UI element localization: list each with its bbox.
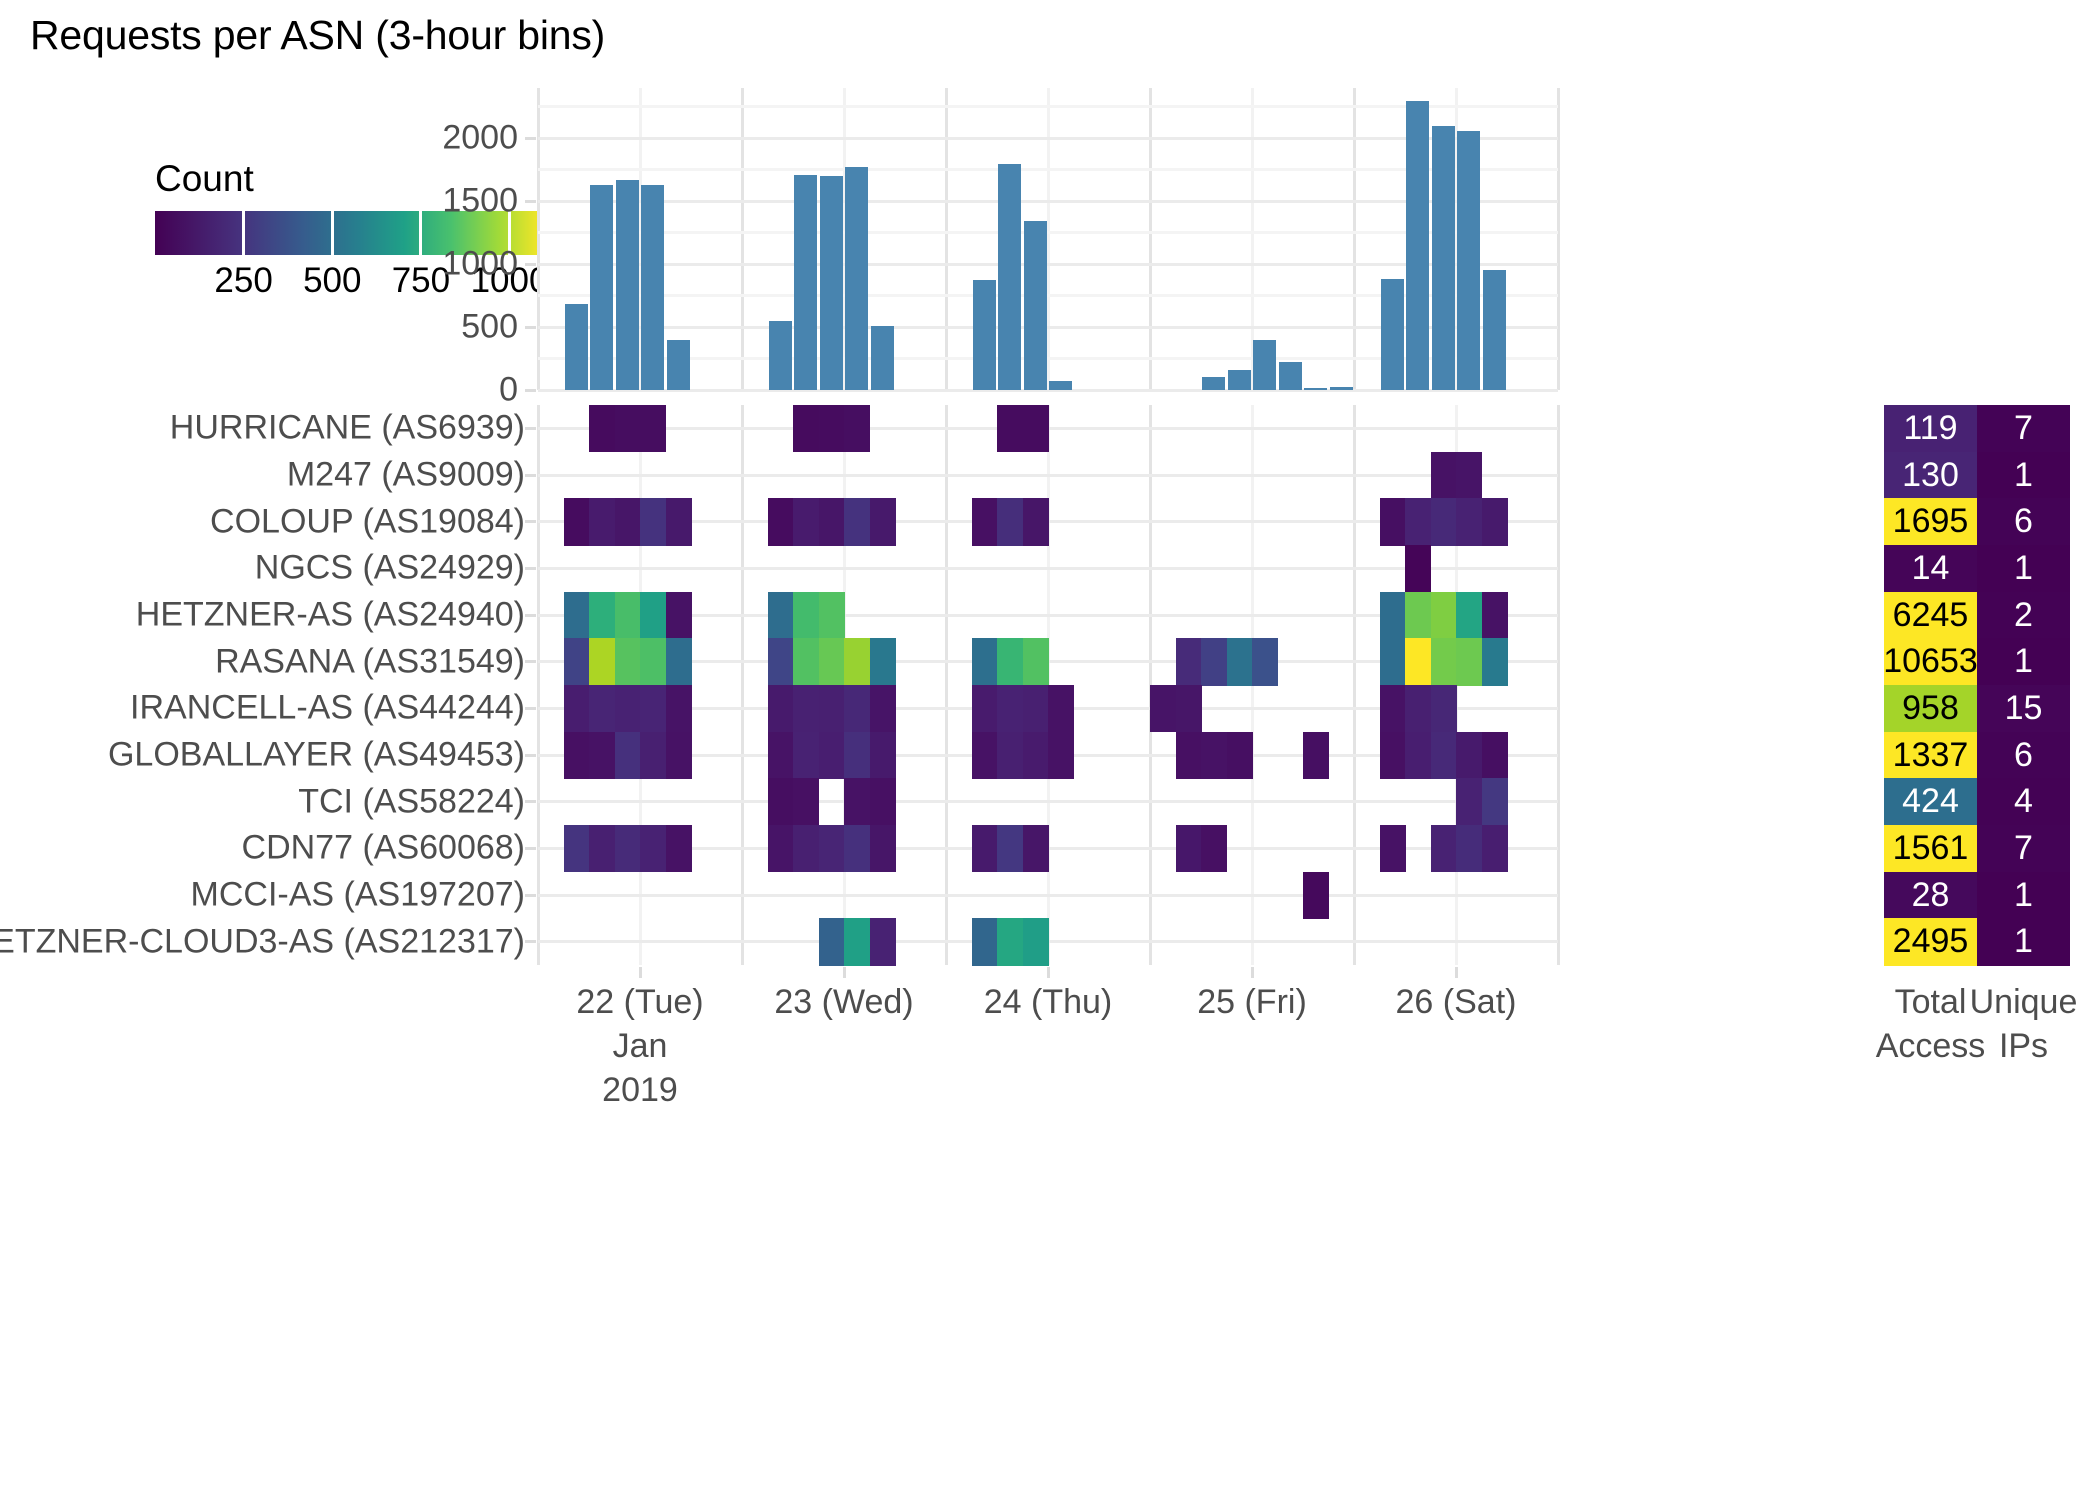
heat-y-tick-mark <box>525 614 536 617</box>
bar-grid-hline <box>538 168 1558 171</box>
heatmap-cell <box>1431 825 1457 872</box>
summary-total-access-cell: 10653 <box>1884 638 1977 685</box>
heat-y-tick-mark <box>525 520 536 523</box>
heatmap-cell <box>1482 592 1508 639</box>
heatmap-cell <box>666 825 692 872</box>
heatmap-cell <box>1380 825 1406 872</box>
heat-y-tick-mark <box>525 707 536 710</box>
summary-unique-ips-cell: 7 <box>1977 405 2070 452</box>
bar-grid-hline <box>538 231 1558 234</box>
bar-chart-panel <box>538 88 1558 390</box>
heatmap-cell <box>819 825 845 872</box>
summary-unique-ips-cell: 1 <box>1977 638 2070 685</box>
asn-row-label: TCI (AS58224) <box>298 782 525 821</box>
heatmap-cell <box>768 732 794 779</box>
heatmap-cell <box>1456 592 1482 639</box>
heatmap-cell <box>819 918 845 965</box>
bar-y-tick-mark <box>525 389 536 392</box>
heatmap-cell <box>615 825 641 872</box>
bar-grid-vline <box>945 88 948 390</box>
bar <box>590 185 613 390</box>
bar-grid-vline <box>741 88 744 390</box>
heatmap-cell <box>768 498 794 545</box>
heatmap-cell <box>1405 638 1431 685</box>
heatmap-cell <box>615 638 641 685</box>
heatmap-cell <box>666 638 692 685</box>
heatmap-cell <box>1380 732 1406 779</box>
summary-total-access-cell: 119 <box>1884 405 1977 452</box>
bar <box>1432 126 1455 390</box>
asn-row-label: HETZNER-CLOUD3-AS (AS212317) <box>0 922 525 961</box>
heatmap-cell <box>972 918 998 965</box>
bar <box>871 326 894 390</box>
heatmap-cell <box>793 498 819 545</box>
heatmap-cell <box>819 732 845 779</box>
heatmap-cell <box>793 638 819 685</box>
heatmap-cell <box>819 685 845 732</box>
heatmap-cell <box>640 405 666 452</box>
summary-table-panel: 1197130116956141624521065319581513376424… <box>1884 405 2070 965</box>
bar-grid-hline <box>538 137 1558 140</box>
heatmap-cell <box>1023 825 1049 872</box>
heat-grid-vline <box>945 405 948 965</box>
heatmap-cell <box>640 592 666 639</box>
bar <box>1304 388 1327 390</box>
heatmap-cell <box>972 732 998 779</box>
heatmap-cell <box>1048 732 1074 779</box>
bar <box>641 185 664 390</box>
bar <box>1381 279 1404 390</box>
bar <box>565 304 588 390</box>
heatmap-cell <box>1456 825 1482 872</box>
bar <box>1483 270 1506 390</box>
heatmap-cell <box>640 498 666 545</box>
bar-y-tick-mark <box>525 200 536 203</box>
heatmap-cell <box>564 732 590 779</box>
heatmap-cell <box>1482 778 1508 825</box>
bar-grid-vline-minor <box>1047 88 1050 390</box>
summary-unique-ips-cell: 2 <box>1977 592 2070 639</box>
summary-unique-ips-cell: 6 <box>1977 498 2070 545</box>
heatmap-cell <box>844 638 870 685</box>
heat-grid-vline <box>741 405 744 965</box>
legend-tick-mark <box>242 211 245 255</box>
heatmap-cell <box>1456 452 1482 499</box>
bar <box>1406 101 1429 390</box>
heatmap-cell <box>1380 685 1406 732</box>
bar-y-tick-mark <box>525 326 536 329</box>
heatmap-cell <box>589 592 615 639</box>
heatmap-cell <box>666 732 692 779</box>
heat-y-tick-mark <box>525 474 536 477</box>
heatmap-cell <box>1431 685 1457 732</box>
bar <box>820 176 843 390</box>
bar-y-tick-label: 1500 <box>300 182 518 221</box>
heatmap-cell <box>972 638 998 685</box>
heatmap-cell <box>1252 638 1278 685</box>
heatmap-cell <box>768 825 794 872</box>
heatmap-cell <box>564 825 590 872</box>
bar <box>794 175 817 390</box>
bar-grid-hline <box>538 200 1558 203</box>
page-title: Requests per ASN (3-hour bins) <box>30 12 605 59</box>
heat-grid-vline <box>537 405 540 965</box>
heatmap-cell <box>844 685 870 732</box>
heatmap-cell <box>640 732 666 779</box>
heatmap-cell <box>844 498 870 545</box>
summary-footer-total-line2: Access <box>1876 1027 1986 1066</box>
heat-grid-vline <box>1557 405 1560 965</box>
asn-row-label: M247 (AS9009) <box>287 456 525 495</box>
heatmap-cell <box>1227 638 1253 685</box>
heatmap-cell <box>1201 638 1227 685</box>
heat-grid-hline <box>538 800 1558 803</box>
heatmap-cell <box>615 498 641 545</box>
bar <box>973 280 996 390</box>
bar-grid-vline <box>1149 88 1152 390</box>
x-tick-mark <box>1251 967 1254 978</box>
heat-y-tick-mark <box>525 894 536 897</box>
heatmap-cell <box>1405 732 1431 779</box>
heat-y-tick-mark <box>525 427 536 430</box>
heatmap-cell <box>972 825 998 872</box>
asn-row-labels: HURRICANE (AS6939)M247 (AS9009)COLOUP (A… <box>0 405 525 965</box>
x-axis-day-label: 22 (Tue) <box>576 983 703 1022</box>
x-tick-mark <box>843 967 846 978</box>
heatmap-cell <box>793 405 819 452</box>
bar-y-tick-label: 2000 <box>300 119 518 158</box>
heatmap-cell <box>564 685 590 732</box>
heatmap-cell <box>844 825 870 872</box>
summary-unique-ips-cell: 1 <box>1977 452 2070 499</box>
heatmap-cell <box>997 825 1023 872</box>
heatmap-cell <box>1048 685 1074 732</box>
heatmap-cell <box>1023 918 1049 965</box>
asn-row-label: GLOBALLAYER (AS49453) <box>108 736 525 775</box>
heatmap-cell <box>1431 732 1457 779</box>
heatmap-cell <box>589 498 615 545</box>
x-axis-day-label: 24 (Thu) <box>984 983 1113 1022</box>
summary-footer-unique-line1: Unique <box>1970 983 2078 1022</box>
bar-y-tick-label: 500 <box>300 308 518 347</box>
heatmap-cell <box>1456 778 1482 825</box>
summary-total-access-cell: 14 <box>1884 545 1977 592</box>
heatmap-cell <box>1482 638 1508 685</box>
bar <box>1202 377 1225 390</box>
summary-unique-ips-cell: 6 <box>1977 732 2070 779</box>
heatmap-cell <box>564 592 590 639</box>
heatmap-cell <box>1023 638 1049 685</box>
bar <box>1024 221 1047 390</box>
summary-total-access-cell: 1561 <box>1884 825 1977 872</box>
summary-footer-total-line1: Total <box>1895 983 1967 1022</box>
summary-total-access-cell: 1695 <box>1884 498 1977 545</box>
asn-row-label: HETZNER-AS (AS24940) <box>136 596 525 635</box>
heatmap-cell <box>640 638 666 685</box>
heatmap-cell <box>844 732 870 779</box>
heatmap-cell <box>793 778 819 825</box>
heatmap-cell <box>793 825 819 872</box>
heatmap-cell <box>1023 732 1049 779</box>
heat-grid-vline <box>1353 405 1356 965</box>
bar <box>845 167 868 390</box>
heatmap-cell <box>972 685 998 732</box>
heatmap-cell <box>819 498 845 545</box>
bar-y-tick-label: 0 <box>300 371 518 410</box>
bar-grid-vline <box>1353 88 1356 390</box>
heatmap-cell <box>615 685 641 732</box>
heat-grid-hline <box>538 894 1558 897</box>
heatmap-cell <box>1380 498 1406 545</box>
bar-grid-hline <box>538 357 1558 360</box>
heatmap-cell <box>589 685 615 732</box>
heatmap-cell <box>1380 638 1406 685</box>
heatmap-cell <box>1431 498 1457 545</box>
summary-total-access-cell: 2495 <box>1884 918 1977 965</box>
heatmap-cell <box>615 592 641 639</box>
asn-row-label: HURRICANE (AS6939) <box>170 409 525 448</box>
summary-total-access-cell: 424 <box>1884 778 1977 825</box>
summary-footer-unique-line2: IPs <box>1999 1027 2048 1066</box>
asn-row-label: COLOUP (AS19084) <box>210 502 525 541</box>
heatmap-cell <box>819 638 845 685</box>
heatmap-cell <box>819 405 845 452</box>
x-axis-month-label: Jan <box>613 1027 668 1066</box>
heatmap-cell <box>589 825 615 872</box>
heatmap-cell <box>844 778 870 825</box>
heatmap-cell <box>1431 638 1457 685</box>
bar-grid-vline <box>1557 88 1560 390</box>
heatmap-cell <box>1456 498 1482 545</box>
summary-total-access-cell: 1337 <box>1884 732 1977 779</box>
heatmap-cell <box>793 685 819 732</box>
heatmap-cell <box>870 918 896 965</box>
heatmap-cell <box>768 638 794 685</box>
heatmap-cell <box>666 685 692 732</box>
heatmap-cell <box>972 498 998 545</box>
bar-grid-hline <box>538 105 1558 108</box>
heatmap-cell <box>564 498 590 545</box>
asn-row-label: CDN77 (AS60068) <box>242 829 525 868</box>
heatmap-cell <box>615 732 641 779</box>
heatmap-cell <box>1456 732 1482 779</box>
heatmap-cell <box>768 778 794 825</box>
summary-total-access-cell: 6245 <box>1884 592 1977 639</box>
heatmap-cell <box>870 685 896 732</box>
asn-row-label: RASANA (AS31549) <box>215 642 525 681</box>
heatmap-cell <box>1176 638 1202 685</box>
heatmap-cell <box>589 638 615 685</box>
x-tick-mark <box>1455 967 1458 978</box>
bar-grid-hline <box>538 326 1558 329</box>
heatmap-cell <box>1150 685 1176 732</box>
heatmap-cell <box>1482 825 1508 872</box>
heatmap-cell <box>1380 592 1406 639</box>
heatmap-cell <box>793 732 819 779</box>
summary-unique-ips-cell: 1 <box>1977 545 2070 592</box>
heat-y-tick-mark <box>525 754 536 757</box>
heatmap-cell <box>1176 732 1202 779</box>
bar-y-tick-mark <box>525 263 536 266</box>
summary-unique-ips-cell: 4 <box>1977 778 2070 825</box>
x-axis-day-label: 25 (Fri) <box>1197 983 1307 1022</box>
heatmap-cell <box>564 638 590 685</box>
heat-y-tick-mark <box>525 847 536 850</box>
heatmap-cell <box>589 405 615 452</box>
bar <box>998 164 1021 390</box>
heatmap-cell <box>844 405 870 452</box>
heatmap-cell <box>870 778 896 825</box>
x-axis-year-label: 2019 <box>602 1071 678 1110</box>
heatmap-cell <box>844 918 870 965</box>
heatmap-cell <box>1405 545 1431 592</box>
heatmap-cell <box>1303 732 1329 779</box>
heatmap-cell <box>1176 685 1202 732</box>
x-axis-day-label: 26 (Sat) <box>1396 983 1517 1022</box>
summary-total-access-cell: 130 <box>1884 452 1977 499</box>
bar-grid-vline <box>537 88 540 390</box>
heat-y-tick-mark <box>525 940 536 943</box>
heatmap-cell <box>1405 498 1431 545</box>
bar <box>616 180 639 390</box>
heatmap-cell <box>1456 638 1482 685</box>
x-axis-day-label: 23 (Wed) <box>774 983 913 1022</box>
heatmap-cell <box>819 592 845 639</box>
asn-row-label: MCCI-AS (AS197207) <box>191 876 525 915</box>
heatmap-cell <box>1482 498 1508 545</box>
bar <box>1228 370 1251 390</box>
heatmap-cell <box>1431 592 1457 639</box>
heatmap-cell <box>793 592 819 639</box>
heat-y-tick-mark <box>525 567 536 570</box>
x-tick-mark <box>1047 967 1050 978</box>
heatmap-cell <box>997 685 1023 732</box>
summary-total-access-cell: 958 <box>1884 685 1977 732</box>
legend-tick-label: 250 <box>214 261 272 301</box>
heatmap-cell <box>666 592 692 639</box>
chart-root: Requests per ASN (3-hour bins) Count 250… <box>0 0 2100 1500</box>
heatmap-cell <box>997 638 1023 685</box>
heatmap-cell <box>1176 825 1202 872</box>
heatmap-cell <box>1482 732 1508 779</box>
bar-y-tick-mark <box>525 137 536 140</box>
heatmap-cell <box>1023 685 1049 732</box>
summary-unique-ips-cell: 1 <box>1977 918 2070 965</box>
heatmap-panel <box>538 405 1558 965</box>
summary-unique-ips-cell: 1 <box>1977 872 2070 919</box>
heatmap-cell <box>997 498 1023 545</box>
heatmap-cell <box>640 825 666 872</box>
heatmap-cell <box>1303 872 1329 919</box>
summary-total-access-cell: 28 <box>1884 872 1977 919</box>
bar-grid-hline <box>538 294 1558 297</box>
heatmap-cell <box>870 498 896 545</box>
heat-y-tick-mark <box>525 800 536 803</box>
heatmap-cell <box>589 732 615 779</box>
bar <box>1457 131 1480 390</box>
bar <box>1253 340 1276 390</box>
heatmap-cell <box>997 918 1023 965</box>
heat-grid-hline <box>538 474 1558 477</box>
heatmap-cell <box>1023 498 1049 545</box>
heatmap-cell <box>870 732 896 779</box>
heatmap-cell <box>640 685 666 732</box>
bar <box>1279 362 1302 390</box>
x-tick-mark <box>639 967 642 978</box>
asn-row-label: IRANCELL-AS (AS44244) <box>130 689 525 728</box>
heatmap-cell <box>1405 685 1431 732</box>
heatmap-cell <box>666 498 692 545</box>
heatmap-cell <box>1431 452 1457 499</box>
heatmap-cell <box>1201 825 1227 872</box>
bar <box>769 321 792 390</box>
heatmap-cell <box>768 592 794 639</box>
summary-unique-ips-cell: 7 <box>1977 825 2070 872</box>
bar <box>667 340 690 390</box>
heatmap-cell <box>997 405 1023 452</box>
heatmap-cell <box>1405 592 1431 639</box>
heatmap-cell <box>768 685 794 732</box>
heatmap-cell <box>1023 405 1049 452</box>
bar <box>1049 381 1072 390</box>
heatmap-cell <box>1227 732 1253 779</box>
asn-row-label: NGCS (AS24929) <box>255 549 525 588</box>
bar-grid-hline <box>538 263 1558 266</box>
bar-y-tick-label: 1000 <box>300 245 518 284</box>
heatmap-cell <box>870 825 896 872</box>
bar-grid-hline <box>538 389 1558 392</box>
heatmap-cell <box>997 732 1023 779</box>
heat-y-tick-mark <box>525 660 536 663</box>
heatmap-cell <box>615 405 641 452</box>
heatmap-cell <box>870 638 896 685</box>
summary-unique-ips-cell: 15 <box>1977 685 2070 732</box>
heatmap-cell <box>1201 732 1227 779</box>
bar <box>1330 387 1353 390</box>
